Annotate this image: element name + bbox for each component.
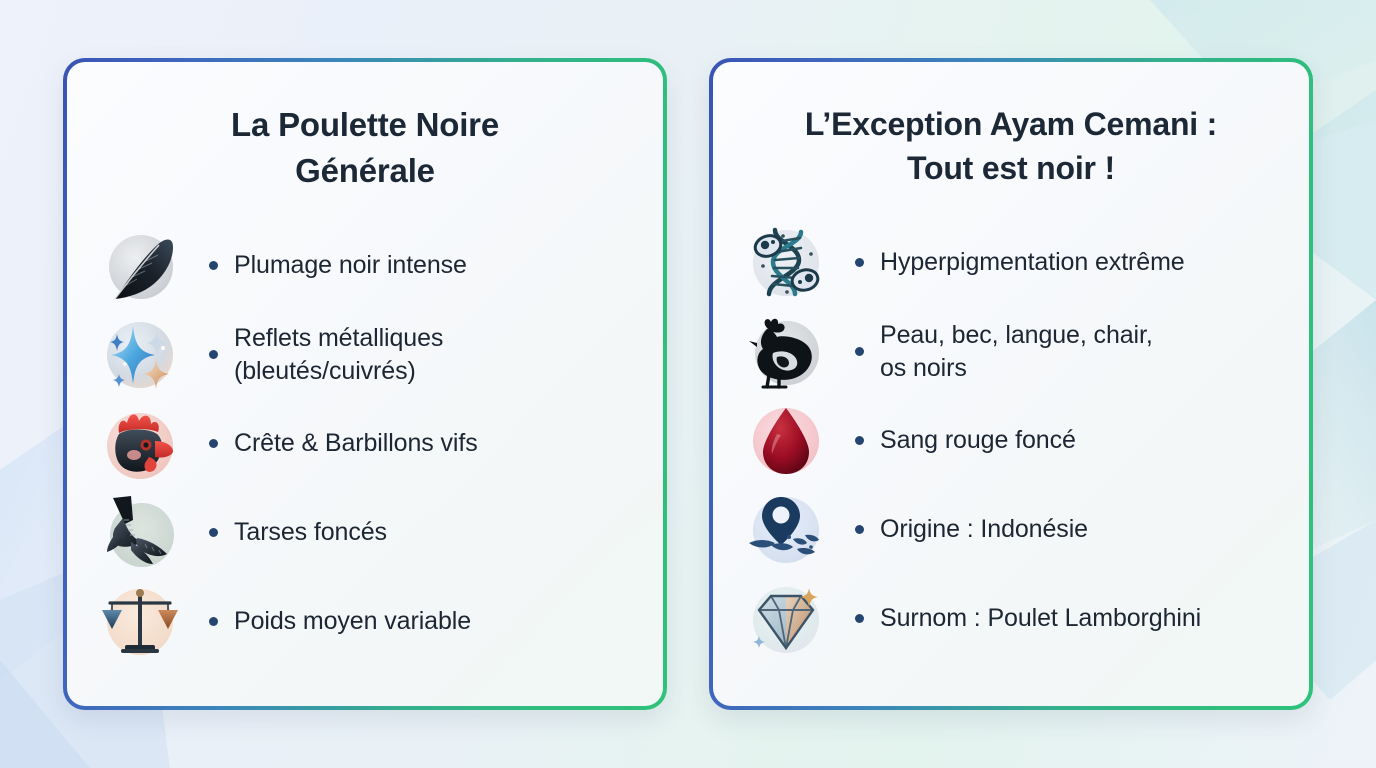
bullet-icon (209, 261, 218, 270)
balance-scale-icon (97, 579, 183, 665)
cards-row: La Poulette Noire Générale (0, 0, 1376, 768)
bullet-icon (209, 528, 218, 537)
list-item[interactable]: Sang rouge foncé (743, 396, 1279, 485)
bullet-icon (855, 436, 864, 445)
list-item[interactable]: Peau, bec, langue, chair, os noirs (743, 307, 1279, 396)
rooster-head-icon (97, 401, 183, 487)
map-pin-indonesia-icon (743, 487, 829, 573)
bullet-icon (855, 525, 864, 534)
list-item-label: Peau, bec, langue, chair, os noirs (880, 319, 1153, 385)
list-item-label: Poids moyen variable (234, 605, 471, 638)
list-item[interactable]: Plumage noir intense (97, 221, 633, 310)
bullet-icon (209, 439, 218, 448)
list-item-label: Tarses foncés (234, 516, 387, 549)
bullet-icon (855, 347, 864, 356)
sparkles-icon (97, 312, 183, 398)
chicken-foot-icon (97, 490, 183, 576)
list-item[interactable]: Reflets métalliques (bleutés/cuivrés) (97, 310, 633, 399)
list-item-label: Crête & Barbillons vifs (234, 427, 478, 460)
card-title: La Poulette Noire Générale (97, 102, 633, 193)
feature-list: Plumage noir intense (97, 221, 633, 680)
dna-icon (743, 220, 829, 306)
card-title: L’Exception Ayam Cemani : Tout est noir … (743, 102, 1279, 190)
list-item-label: Reflets métalliques (bleutés/cuivrés) (234, 322, 443, 388)
feather-icon (97, 223, 183, 309)
diamond-icon (743, 576, 829, 662)
bullet-icon (855, 614, 864, 623)
list-item[interactable]: Surnom : Poulet Lamborghini (743, 574, 1279, 663)
feature-list: Hyperpigmentation extrême (743, 218, 1279, 680)
list-item-label: Sang rouge foncé (880, 424, 1076, 457)
card-poulette-noire-generale: La Poulette Noire Générale (63, 58, 667, 710)
card-exception-ayam-cemani: L’Exception Ayam Cemani : Tout est noir … (709, 58, 1313, 710)
slide-canvas: La Poulette Noire Générale (0, 0, 1376, 768)
list-item-label: Origine : Indonésie (880, 513, 1088, 546)
card-body: La Poulette Noire Générale (67, 62, 663, 706)
list-item[interactable]: Origine : Indonésie (743, 485, 1279, 574)
card-body: L’Exception Ayam Cemani : Tout est noir … (713, 62, 1309, 706)
list-item[interactable]: Tarses foncés (97, 488, 633, 577)
bullet-icon (855, 258, 864, 267)
bullet-icon (209, 350, 218, 359)
blood-drop-icon (743, 398, 829, 484)
bullet-icon (209, 617, 218, 626)
list-item-label: Plumage noir intense (234, 249, 467, 282)
list-item-label: Surnom : Poulet Lamborghini (880, 602, 1201, 635)
hen-icon (743, 309, 829, 395)
list-item[interactable]: Poids moyen variable (97, 577, 633, 666)
list-item[interactable]: Crête & Barbillons vifs (97, 399, 633, 488)
list-item-label: Hyperpigmentation extrême (880, 246, 1185, 279)
list-item[interactable]: Hyperpigmentation extrême (743, 218, 1279, 307)
